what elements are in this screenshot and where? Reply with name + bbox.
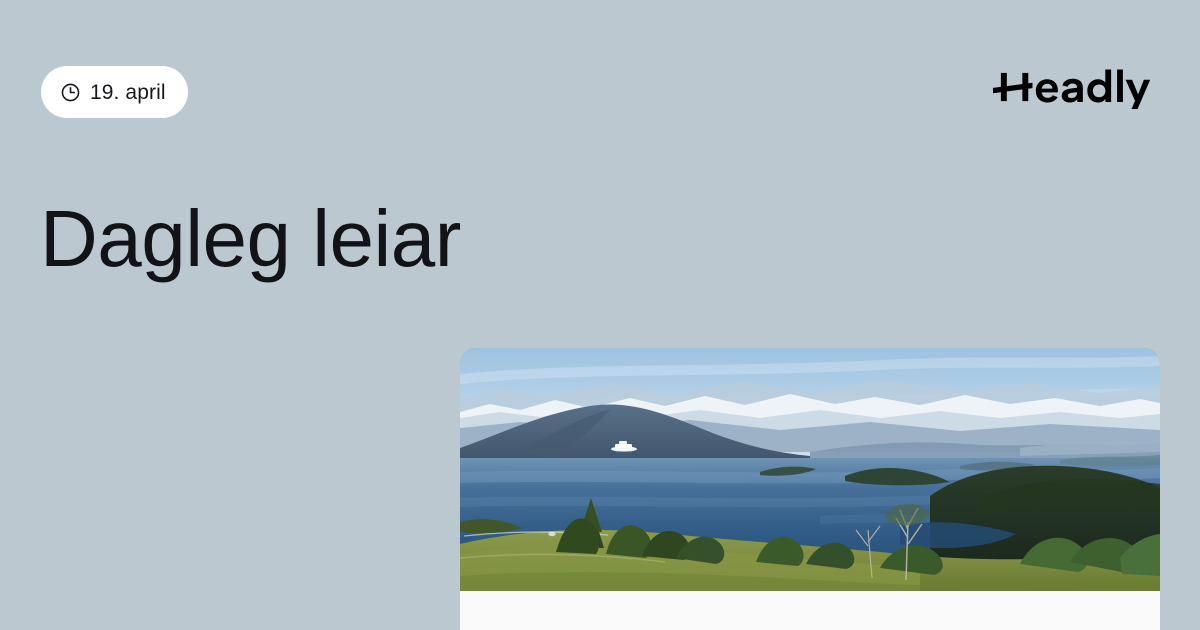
headly-wordmark-icon <box>993 65 1162 109</box>
fjord-landscape-illustration <box>460 348 1160 591</box>
article-card[interactable] <box>460 348 1160 630</box>
page-title: Dagleg leiar <box>40 196 461 282</box>
article-card-body <box>460 591 1160 630</box>
date-badge: 19. april <box>41 66 188 118</box>
clock-icon <box>60 82 81 103</box>
date-label: 19. april <box>90 82 166 103</box>
brand-logo <box>993 63 1162 111</box>
poster-canvas: 19. april Dagleg leiar <box>0 0 1200 630</box>
article-image <box>460 348 1160 591</box>
